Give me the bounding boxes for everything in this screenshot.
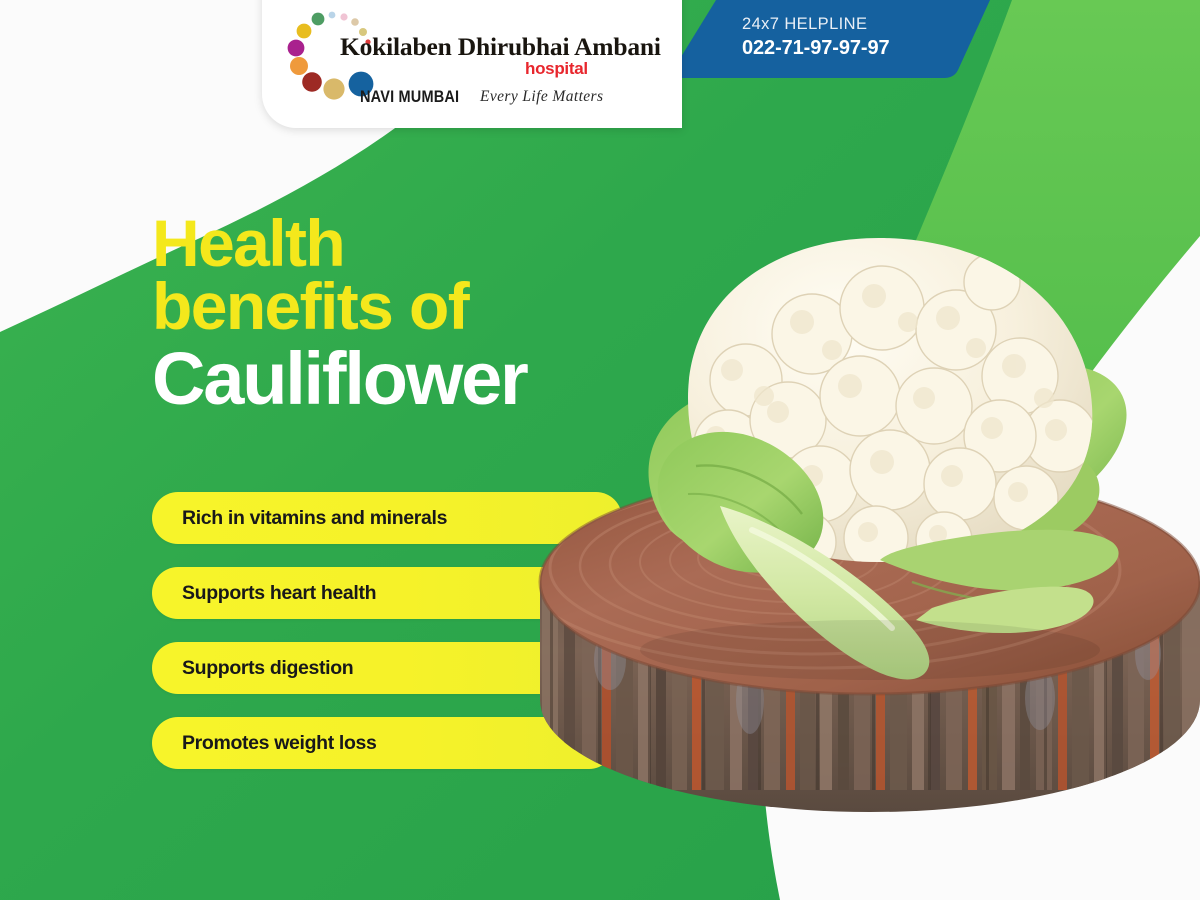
- headline-line-3: Cauliflower: [152, 341, 527, 416]
- helpline-number[interactable]: 022-71-97-97-97: [742, 35, 890, 61]
- logo-city: NAVI MUMBAI: [360, 88, 459, 107]
- benefit-label: Rich in vitamins and minerals: [182, 507, 447, 530]
- produce-illustration: [520, 230, 1200, 840]
- logo-hospital-name: Kokilaben Dhirubhai Ambani: [340, 32, 661, 62]
- logo-tagline: Every Life Matters: [480, 88, 603, 106]
- headline-line-2: benefits of: [152, 275, 527, 338]
- benefit-label: Supports heart health: [182, 582, 376, 605]
- helpline-block[interactable]: 24x7 HELPLINE 022-71-97-97-97: [742, 14, 890, 61]
- benefit-label: Supports digestion: [182, 657, 353, 680]
- page-title: Health benefits of Cauliflower: [152, 212, 527, 417]
- helpline-label: 24x7 HELPLINE: [742, 14, 890, 35]
- hospital-logo[interactable]: Kokilaben Dhirubhai Ambani hospital NAVI…: [280, 6, 640, 118]
- poster-canvas: Kokilaben Dhirubhai Ambani hospital NAVI…: [0, 0, 1200, 900]
- wood-log-slice: [520, 230, 1200, 840]
- logo-hospital-word: hospital: [525, 59, 588, 79]
- headline-line-1: Health: [152, 212, 527, 275]
- benefit-label: Promotes weight loss: [182, 732, 377, 755]
